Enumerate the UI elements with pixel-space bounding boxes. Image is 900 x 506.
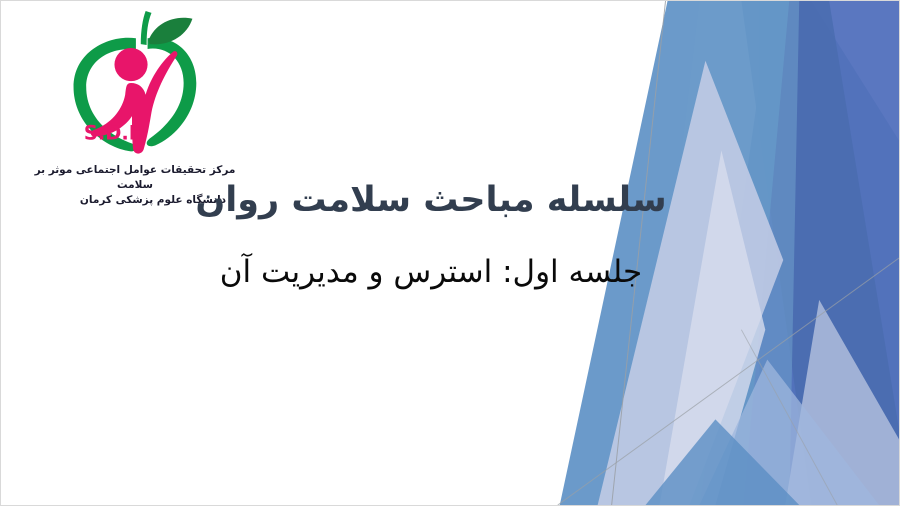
- facet-bottom-blue: [646, 419, 800, 505]
- slide-title: سلسله مباحث سلامت روان: [151, 179, 711, 223]
- accent-line-cross: [741, 330, 837, 505]
- slide-subtitle: جلسه اول: استرس و مدیریت آن: [151, 253, 711, 292]
- sdh-logo-icon: S.D.H: [54, 9, 210, 161]
- facet-lavender-right: [785, 300, 899, 505]
- accent-line-diagonal: [558, 258, 899, 505]
- apple-leaf-icon: [149, 18, 193, 45]
- facet-periwinkle-base: [699, 1, 899, 505]
- facet-light-blue: [699, 360, 879, 505]
- sdh-logo-graphic: S.D.H: [54, 9, 210, 161]
- logo-acronym: S.D.H: [84, 122, 145, 145]
- title-slide: S.D.H مرکز تحقیقات عوامل اجتماعی موثر بر…: [0, 0, 900, 506]
- facet-navy: [741, 1, 899, 505]
- title-text-block: سلسله مباحث سلامت روان جلسه اول: استرس و…: [151, 179, 711, 292]
- figure-head-icon: [114, 48, 147, 81]
- facet-deep-blue: [759, 1, 899, 505]
